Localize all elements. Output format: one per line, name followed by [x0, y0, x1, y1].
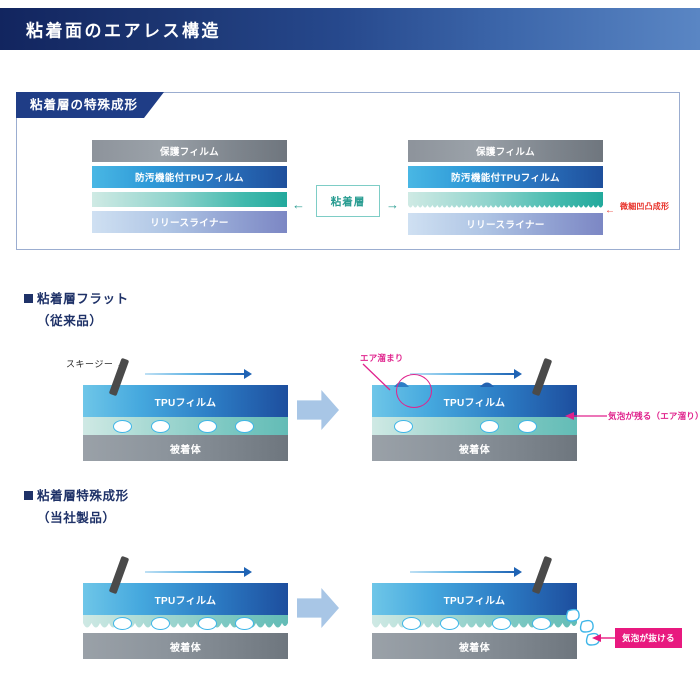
substrate-block: 被着体: [83, 633, 288, 659]
layer-label: 保護フィルム: [160, 144, 219, 158]
bubbles-remain-arrow-icon: [565, 409, 607, 423]
air-bubble: [402, 617, 421, 630]
layer-stack-textured: 保護フィルム 防汚機能付TPUフィルム リリースライナー: [408, 140, 603, 239]
air-bubble: [235, 420, 254, 433]
page-header-banner: 粘着面のエアレス構造: [0, 8, 700, 50]
air-bubble: [518, 420, 537, 433]
air-pocket-highlight-circle: [396, 374, 432, 408]
process-block-arrow-icon: [297, 390, 339, 430]
bullet-square-icon: [24, 294, 33, 303]
flat-diagram-before: TPUフィルム 被着体: [83, 385, 288, 461]
flow-arrow-head-icon: [514, 369, 522, 379]
adhesive-layer-callout-label: 粘着層: [331, 194, 366, 209]
flow-arrow-head-icon: [244, 369, 252, 379]
section-textured-heading: 粘着層特殊成形: [24, 485, 129, 504]
air-bubble: [440, 617, 459, 630]
substrate-label: 被着体: [459, 441, 490, 456]
layer-label: 防汚機能付TPUフィルム: [135, 170, 244, 184]
panel-tab-label: 粘着層の特殊成形: [16, 92, 164, 118]
layer-adhesive-textured: [408, 192, 603, 209]
film-label: TPUフィルム: [155, 394, 217, 409]
substrate-label: 被着体: [170, 441, 201, 456]
page-title: 粘着面のエアレス構造: [26, 17, 221, 42]
air-bubble: [151, 420, 170, 433]
arrow-right-to-textured: →: [386, 196, 399, 214]
substrate-label: 被着体: [459, 639, 490, 654]
layer-adhesive-flat: [92, 192, 287, 207]
textured-diagram-after: TPUフィルム 被着体: [372, 583, 577, 659]
film-label: TPUフィルム: [155, 592, 217, 607]
adhesive-block-textured: [372, 615, 577, 633]
substrate-block: 被着体: [372, 633, 577, 659]
flow-direction-arrow: [145, 373, 245, 375]
air-bubble: [113, 617, 132, 630]
section-textured-subheading: （当社製品）: [37, 507, 116, 526]
layer-protective-film: 保護フィルム: [92, 140, 287, 162]
layer-tpu-film: 防汚機能付TPUフィルム: [92, 166, 287, 188]
air-bubble: [198, 617, 217, 630]
adhesive-block-flat: [372, 417, 577, 435]
textured-diagram-before: TPUフィルム 被着体: [83, 583, 288, 659]
adhesive-block-textured: [83, 615, 288, 633]
bubbles-escape-label: 気泡が抜ける: [615, 628, 682, 648]
arrow-left-glyph: ←: [292, 197, 305, 212]
flow-arrow-head-icon: [244, 567, 252, 577]
flow-arrow-head-icon: [514, 567, 522, 577]
section-flat-subheading: （従来品）: [37, 310, 103, 329]
section-flat-heading: 粘着層フラット: [24, 288, 129, 307]
substrate-block: 被着体: [83, 435, 288, 461]
bubbles-remain-label: 気泡が残る（エア溜り）: [608, 410, 700, 422]
bullet-square-icon: [24, 491, 33, 500]
escaping-bubbles-arrow-icon: [592, 632, 616, 644]
layer-release-liner: リリースライナー: [408, 213, 603, 235]
micro-texture-wave: [408, 202, 603, 210]
film-label: TPUフィルム: [444, 592, 506, 607]
air-bubble: [235, 617, 254, 630]
air-bubble: [198, 420, 217, 433]
film-label: TPUフィルム: [444, 394, 506, 409]
layer-label: リリースライナー: [150, 215, 229, 229]
layer-stack-flat: 保護フィルム 防汚機能付TPUフィルム リリースライナー: [92, 140, 287, 237]
layer-tpu-film: 防汚機能付TPUフィルム: [408, 166, 603, 188]
air-bubble: [113, 420, 132, 433]
arrow-left-to-flat: ←: [292, 196, 305, 214]
micro-texture-label: 微細凹凸成形: [620, 201, 669, 212]
adhesive-layer-callout-box: 粘着層: [316, 185, 380, 217]
air-bubble: [532, 617, 551, 630]
layer-label: 防汚機能付TPUフィルム: [451, 170, 560, 184]
air-bubble: [480, 420, 499, 433]
arrow-right-glyph: →: [386, 197, 399, 212]
layer-release-liner: リリースライナー: [92, 211, 287, 233]
air-bubble: [151, 617, 170, 630]
substrate-block: 被着体: [372, 435, 577, 461]
layer-label: リリースライナー: [466, 217, 545, 231]
layer-label: 保護フィルム: [476, 144, 535, 158]
air-bubble: [492, 617, 511, 630]
micro-texture-arrow-icon: ←: [605, 200, 615, 218]
adhesive-block-flat: [83, 417, 288, 435]
process-block-arrow-icon: [297, 588, 339, 628]
air-bubble: [394, 420, 413, 433]
flow-direction-arrow: [145, 571, 245, 573]
substrate-label: 被着体: [170, 639, 201, 654]
flow-direction-arrow: [410, 571, 515, 573]
tpu-film-block: TPUフィルム: [372, 583, 577, 615]
layer-protective-film: 保護フィルム: [408, 140, 603, 162]
